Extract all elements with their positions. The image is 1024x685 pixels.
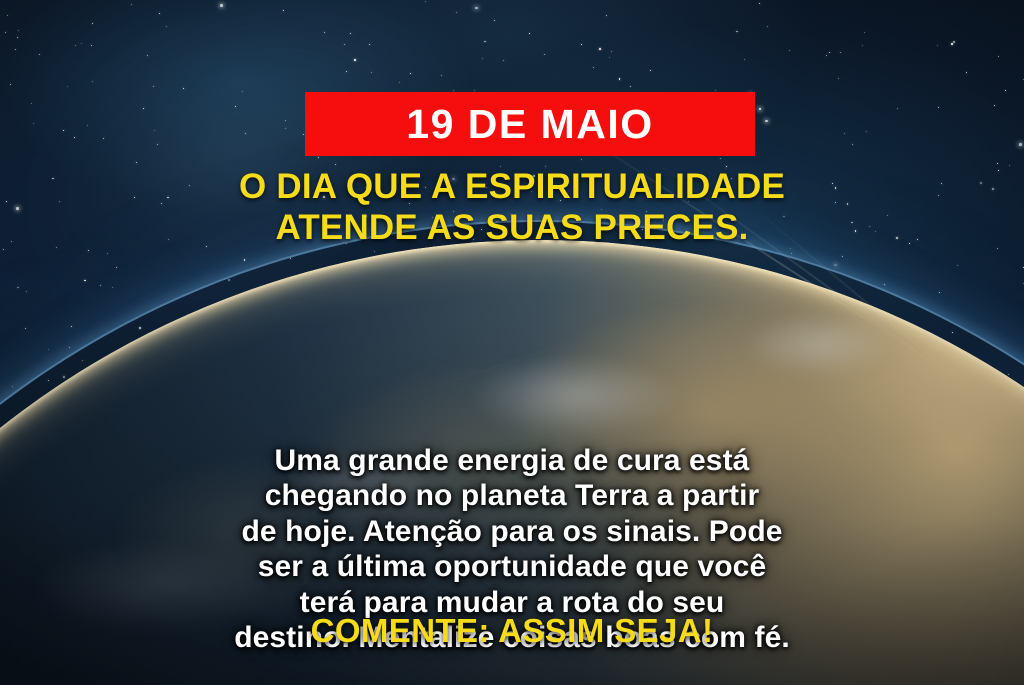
body-line-2: chegando no planeta Terra a partir bbox=[40, 478, 984, 513]
headline-line-1: O DIA QUE A ESPIRITUALIDADE bbox=[0, 167, 1024, 208]
body-line-1: Uma grande energia de cura está bbox=[40, 443, 984, 478]
poster-canvas: 19 DE MAIO O DIA QUE A ESPIRITUALIDADE A… bbox=[0, 0, 1024, 685]
date-banner-text: 19 DE MAIO bbox=[406, 104, 653, 145]
headline-line-2: ATENDE AS SUAS PRECES. bbox=[0, 208, 1024, 249]
body-line-4: ser a última oportunidade que você bbox=[40, 549, 984, 584]
poster-content: 19 DE MAIO O DIA QUE A ESPIRITUALIDADE A… bbox=[0, 0, 1024, 685]
body-line-3: de hoje. Atenção para os sinais. Pode bbox=[40, 514, 984, 549]
call-to-action-text: COMENTE: ASSIM SEJA! bbox=[0, 613, 1024, 649]
headline: O DIA QUE A ESPIRITUALIDADE ATENDE AS SU… bbox=[0, 167, 1024, 248]
date-banner: 19 DE MAIO bbox=[305, 92, 755, 156]
